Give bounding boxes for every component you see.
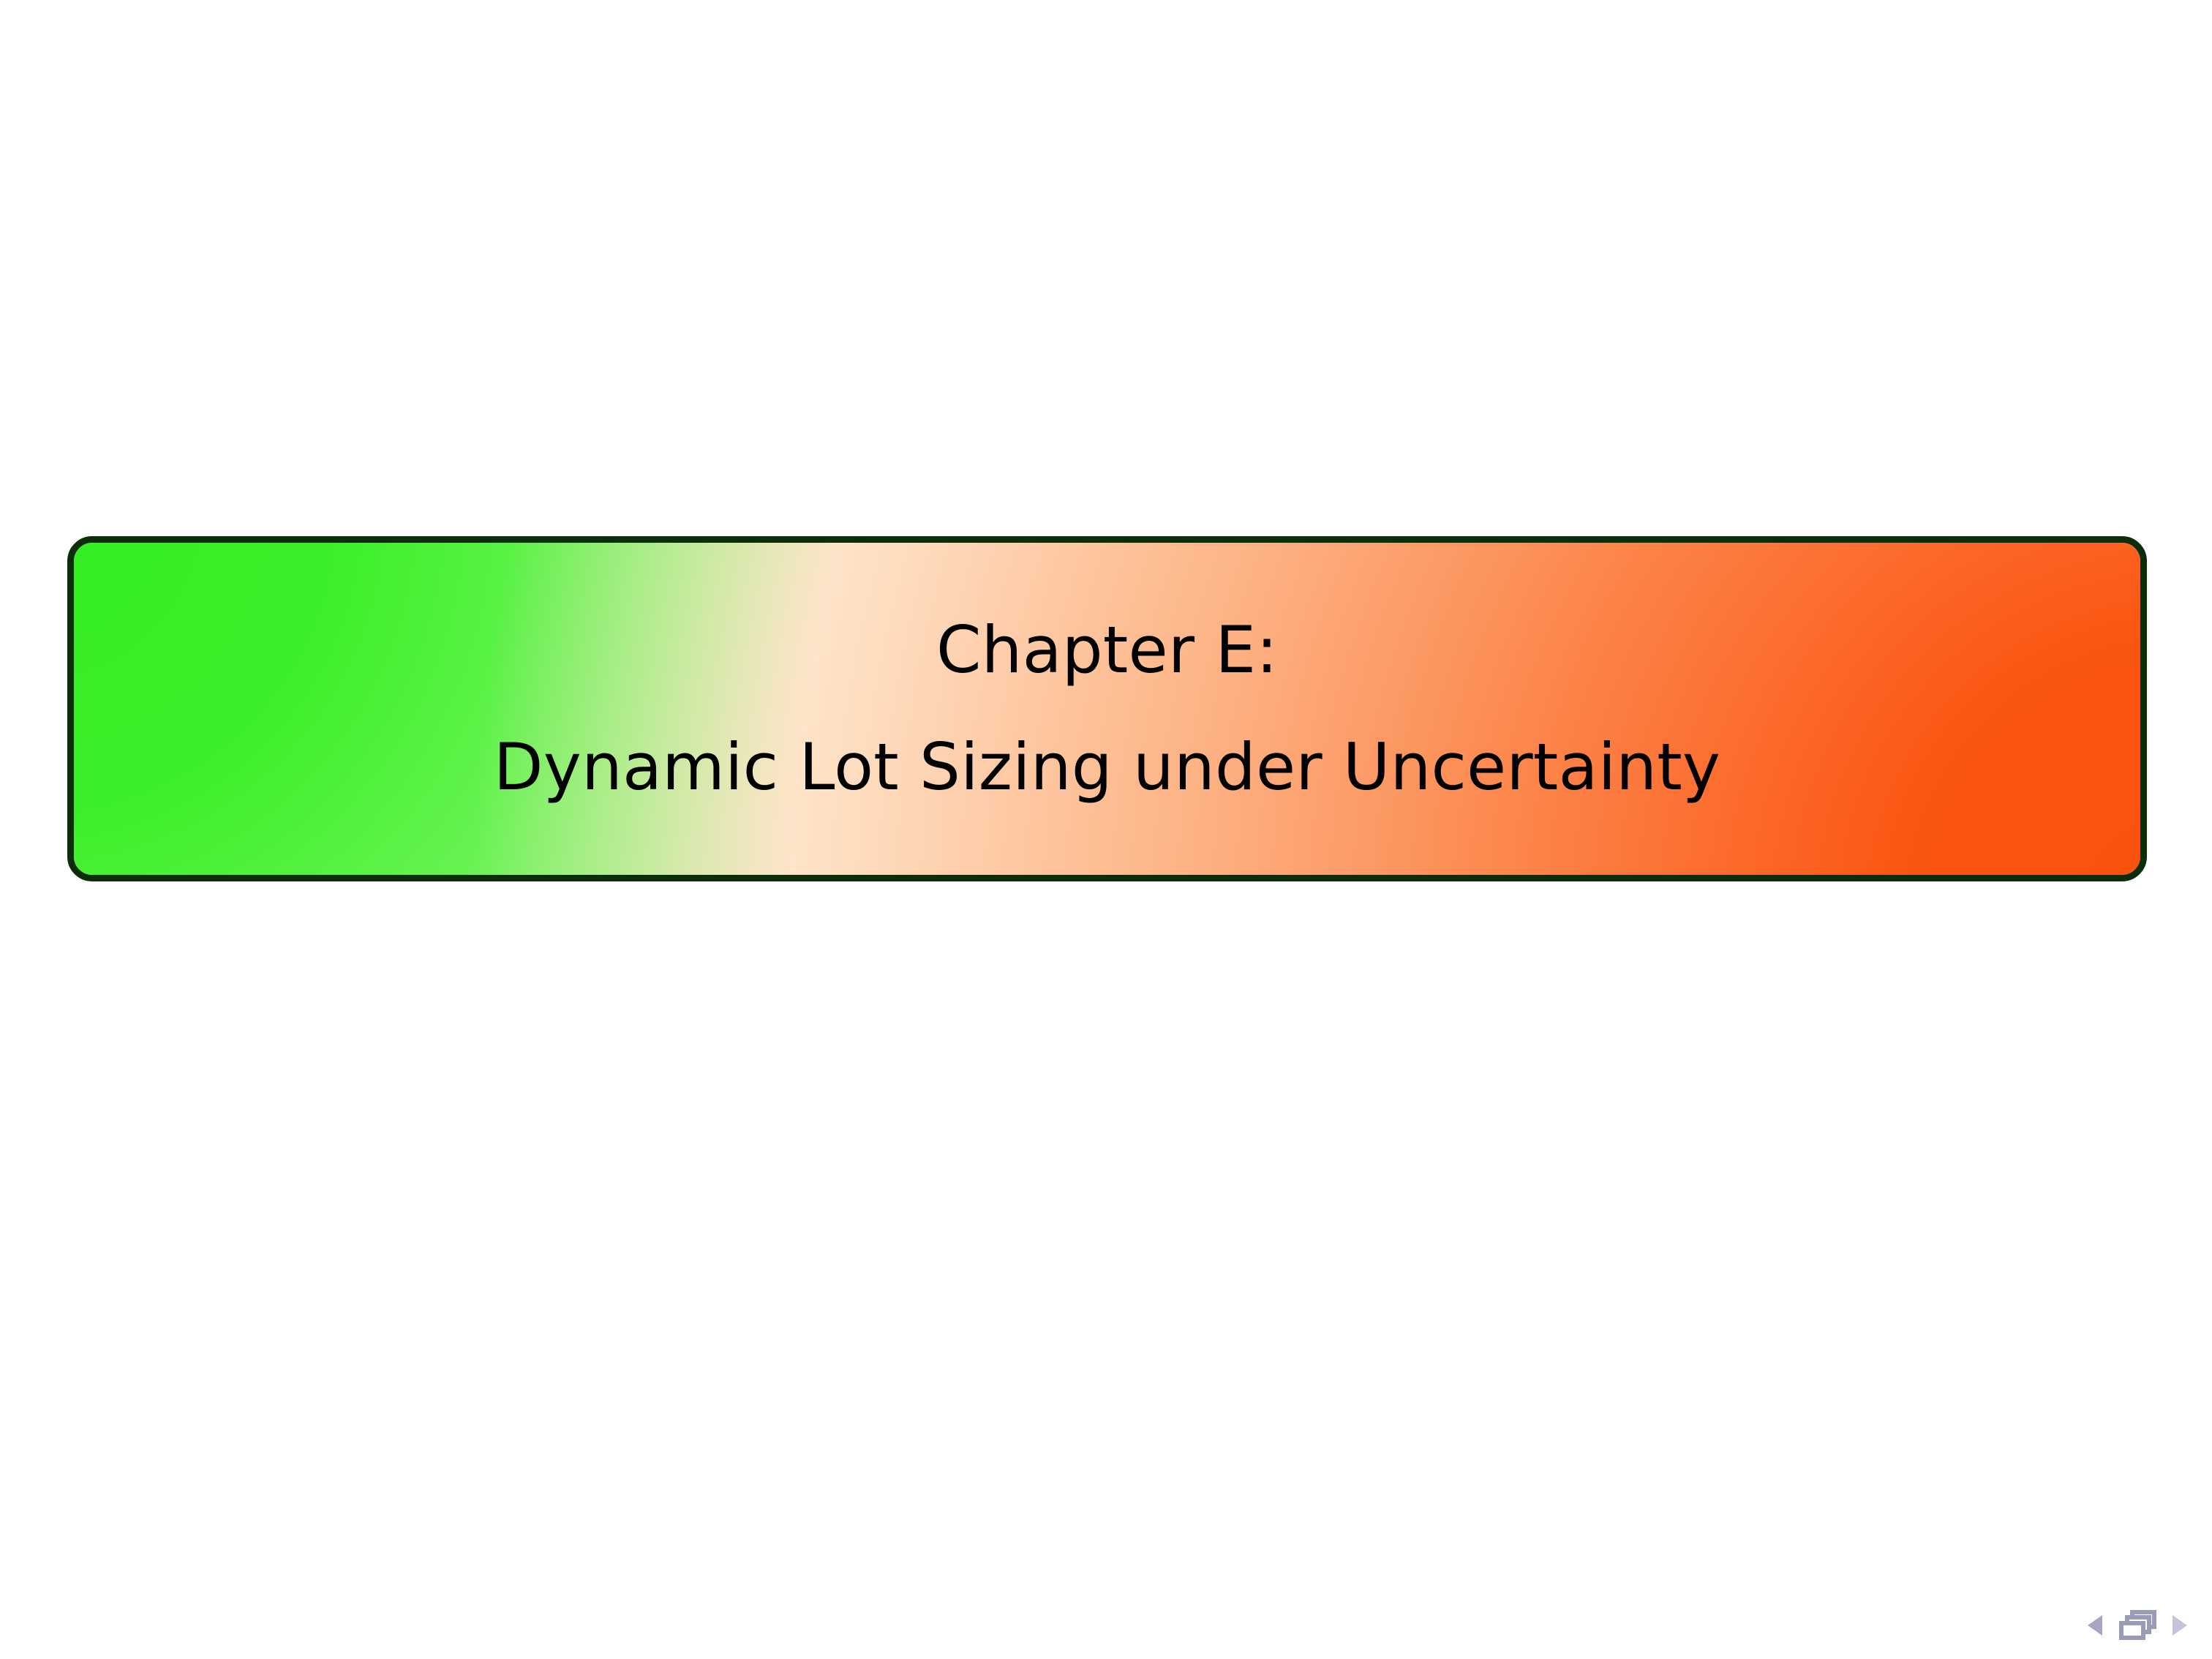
chapter-title-line-1: Chapter E: xyxy=(74,607,2140,693)
stacked-frames-icon xyxy=(2118,1610,2156,1641)
title-block: Chapter E: Dynamic Lot Sizing under Unce… xyxy=(67,536,2147,881)
triangle-left-icon xyxy=(2088,1615,2102,1636)
previous-slide-button[interactable] xyxy=(2088,1615,2102,1636)
chapter-title: Chapter E: Dynamic Lot Sizing under Unce… xyxy=(74,607,2140,810)
slide-canvas: Chapter E: Dynamic Lot Sizing under Unce… xyxy=(0,0,2212,1659)
next-slide-button[interactable] xyxy=(2172,1615,2187,1636)
slide-overview-button[interactable] xyxy=(2118,1610,2156,1641)
triangle-right-icon xyxy=(2172,1615,2187,1636)
title-line-spacer xyxy=(74,693,2140,724)
beamer-navigation-bar xyxy=(2088,1605,2187,1646)
chapter-title-line-2: Dynamic Lot Sizing under Uncertainty xyxy=(74,724,2140,810)
